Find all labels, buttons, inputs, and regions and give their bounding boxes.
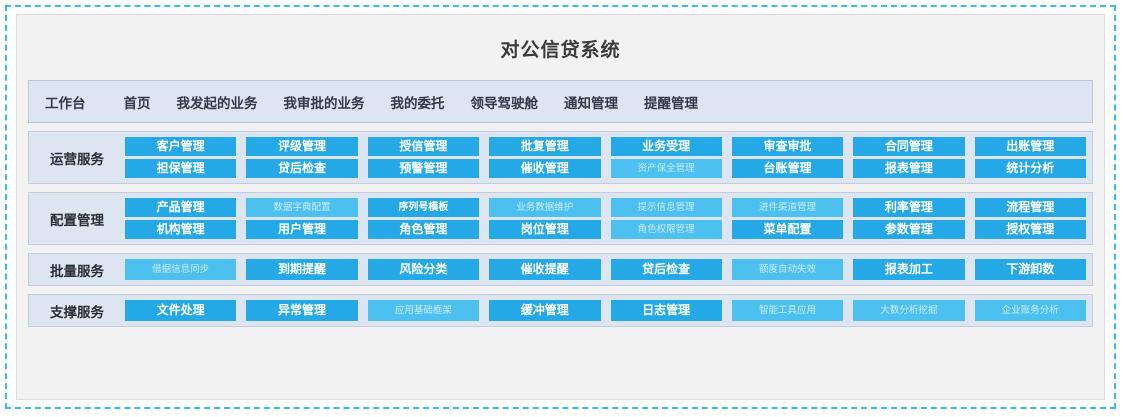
module-button[interactable]: 日志管理: [611, 300, 722, 321]
module-button[interactable]: 评级管理: [246, 137, 357, 156]
section-button-grid: 产品管理数据字典配置序列号模板业务数据维护提示信息管理进件渠道管理利率管理流程管…: [125, 198, 1086, 239]
module-button[interactable]: 业务受理: [611, 137, 722, 156]
module-button[interactable]: 进件渠道管理: [732, 198, 843, 217]
module-button[interactable]: 报表管理: [853, 159, 964, 178]
page-frame: 对公信贷系统 工作台首页我发起的业务我审批的业务我的委托领导驾驶舱通知管理提醒管…: [5, 5, 1116, 409]
module-button[interactable]: 角色权限管理: [611, 220, 722, 239]
module-button[interactable]: 授权管理: [975, 220, 1086, 239]
module-button[interactable]: 角色管理: [368, 220, 479, 239]
nav-item-4[interactable]: 我的委托: [391, 92, 445, 112]
main-navigation: 工作台首页我发起的业务我审批的业务我的委托领导驾驶舱通知管理提醒管理: [28, 80, 1093, 123]
nav-item-1[interactable]: 首页: [124, 92, 151, 112]
module-button[interactable]: 产品管理: [125, 198, 236, 217]
module-button[interactable]: 大数分析挖掘: [853, 300, 964, 321]
module-button[interactable]: 下游卸数: [975, 259, 1086, 280]
module-button[interactable]: 企业账务分析: [975, 300, 1086, 321]
section-label: 配置管理: [29, 209, 125, 229]
module-button[interactable]: 机构管理: [125, 220, 236, 239]
module-button[interactable]: 贷后检查: [611, 259, 722, 280]
module-button[interactable]: 预警管理: [368, 159, 479, 178]
page-title: 对公信贷系统: [17, 15, 1104, 63]
module-button[interactable]: 额度自动失效: [732, 259, 843, 280]
module-button[interactable]: 催收提醒: [489, 259, 600, 280]
section-button-grid: 客户管理评级管理授信管理批复管理业务受理审查审批合同管理出账管理担保管理贷后检查…: [125, 137, 1086, 178]
module-button[interactable]: 担保管理: [125, 159, 236, 178]
section-0: 运营服务客户管理评级管理授信管理批复管理业务受理审查审批合同管理出账管理担保管理…: [28, 131, 1093, 184]
section-1: 配置管理产品管理数据字典配置序列号模板业务数据维护提示信息管理进件渠道管理利率管…: [28, 192, 1093, 245]
module-button[interactable]: 菜单配置: [732, 220, 843, 239]
nav-item-2[interactable]: 我发起的业务: [177, 92, 258, 112]
nav-item-5[interactable]: 领导驾驶舱: [471, 92, 539, 112]
section-3: 支撑服务文件处理异常管理应用基础框架缓冲管理日志管理智能工具应用大数分析挖掘企业…: [28, 294, 1093, 327]
module-button[interactable]: 异常管理: [246, 300, 357, 321]
section-label: 支撑服务: [29, 301, 125, 321]
module-button[interactable]: 到期提醒: [246, 259, 357, 280]
module-button[interactable]: 催收管理: [489, 159, 600, 178]
module-button[interactable]: 合同管理: [853, 137, 964, 156]
section-label: 批量服务: [29, 260, 125, 280]
module-button[interactable]: 批复管理: [489, 137, 600, 156]
nav-item-6[interactable]: 通知管理: [564, 92, 618, 112]
module-button[interactable]: 贷后检查: [246, 159, 357, 178]
module-button[interactable]: 应用基础框架: [368, 300, 479, 321]
module-button[interactable]: 资产保全管理: [611, 159, 722, 178]
module-button[interactable]: 智能工具应用: [732, 300, 843, 321]
section-2: 批量服务借据信息同步到期提醒风险分类催收提醒贷后检查额度自动失效报表加工下游卸数: [28, 253, 1093, 286]
module-button[interactable]: 数据字典配置: [246, 198, 357, 217]
section-label: 运营服务: [29, 148, 125, 168]
module-sections: 运营服务客户管理评级管理授信管理批复管理业务受理审查审批合同管理出账管理担保管理…: [17, 131, 1104, 327]
module-button[interactable]: 报表加工: [853, 259, 964, 280]
module-button[interactable]: 台账管理: [732, 159, 843, 178]
module-button[interactable]: 审查审批: [732, 137, 843, 156]
module-button[interactable]: 授信管理: [368, 137, 479, 156]
module-button[interactable]: 缓冲管理: [489, 300, 600, 321]
module-button[interactable]: 文件处理: [125, 300, 236, 321]
module-button[interactable]: 风险分类: [368, 259, 479, 280]
module-button[interactable]: 序列号模板: [368, 198, 479, 217]
module-button[interactable]: 利率管理: [853, 198, 964, 217]
module-button[interactable]: 统计分析: [975, 159, 1086, 178]
nav-item-7[interactable]: 提醒管理: [644, 92, 698, 112]
module-button[interactable]: 岗位管理: [489, 220, 600, 239]
module-button[interactable]: 业务数据维护: [489, 198, 600, 217]
nav-item-3[interactable]: 我审批的业务: [284, 92, 365, 112]
section-button-grid: 借据信息同步到期提醒风险分类催收提醒贷后检查额度自动失效报表加工下游卸数: [125, 259, 1086, 280]
module-button[interactable]: 参数管理: [853, 220, 964, 239]
section-button-grid: 文件处理异常管理应用基础框架缓冲管理日志管理智能工具应用大数分析挖掘企业账务分析: [125, 300, 1086, 321]
nav-item-0[interactable]: 工作台: [45, 92, 86, 112]
app-window: 对公信贷系统 工作台首页我发起的业务我审批的业务我的委托领导驾驶舱通知管理提醒管…: [16, 14, 1105, 400]
module-button[interactable]: 流程管理: [975, 198, 1086, 217]
module-button[interactable]: 提示信息管理: [611, 198, 722, 217]
module-button[interactable]: 出账管理: [975, 137, 1086, 156]
module-button[interactable]: 借据信息同步: [125, 259, 236, 280]
module-button[interactable]: 客户管理: [125, 137, 236, 156]
module-button[interactable]: 用户管理: [246, 220, 357, 239]
